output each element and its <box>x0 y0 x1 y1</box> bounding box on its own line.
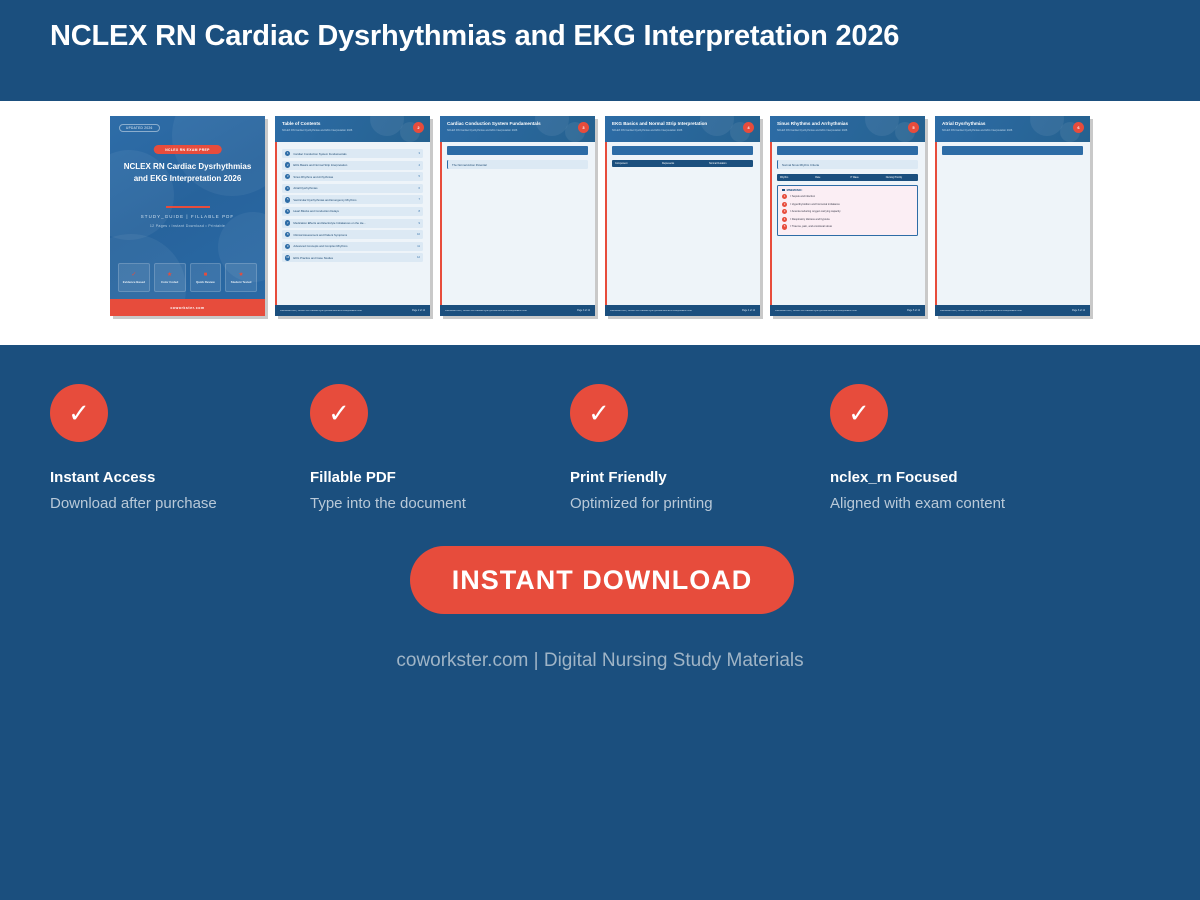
table-column-header: Rhythm <box>780 176 809 179</box>
toc-label: Cardiac Conduction System Fundamentals <box>293 152 415 156</box>
check-icon: ✓ <box>310 384 368 442</box>
toc-page: 6 <box>419 187 420 190</box>
list-item[interactable]: 6 Heart Blocks and Conduction Delays 8 <box>282 207 423 216</box>
mnemonic-heading: MNEMONIC: <box>782 189 913 192</box>
page-number-badge: 2 <box>413 122 424 133</box>
star-icon: ★ <box>167 272 172 278</box>
toc-page: 12 <box>417 256 420 259</box>
toc-label: Sinus Rhythms and Arrhythmias <box>293 175 415 179</box>
list-item[interactable]: 10 EKG Practice and Case Studies 12 <box>282 253 423 262</box>
decorative-blob <box>700 116 734 136</box>
feature-desc: Download after purchase <box>50 495 310 512</box>
list-item: 4 = Respiratory distress and hypoxia <box>782 217 913 222</box>
feature-list: ✓ Instant Access Download after purchase… <box>50 384 1150 512</box>
instant-download-button[interactable]: INSTANT DOWNLOAD <box>410 546 794 614</box>
decorative-blob <box>535 116 569 136</box>
toc-page: 10 <box>417 233 420 236</box>
mnemonic-index: 5 <box>782 224 787 229</box>
list-item[interactable]: 4 Atrial Dysrhythmias 6 <box>282 184 423 193</box>
page-title: Atrial Dysrhythmias <box>942 121 985 126</box>
list-item[interactable]: 5 Ventricular Dysrhythmias and Emergency… <box>282 195 423 204</box>
table-column-header: Rate <box>815 176 844 179</box>
feature-title: nclex_rn Focused <box>830 469 1090 486</box>
toc-index: 5 <box>285 197 290 202</box>
page-number-badge: 4 <box>743 122 754 133</box>
feature-desc: Type into the document <box>310 495 570 512</box>
content-card-label: The Normal Action Potential <box>452 163 487 167</box>
page-kicker: NCLEX RN Cardiac Dysrhythmias and EKG In… <box>282 129 352 132</box>
page-header: NCLEX RN Cardiac Dysrhythmias and EKG In… <box>0 0 1200 101</box>
page-title: Sinus Rhythms and Arrhythmias <box>777 121 848 126</box>
toc-index: 2 <box>285 162 290 167</box>
page-body: Component Represents Normal Duration <box>605 142 760 305</box>
page-body: Normal Sinus Rhythm Criteria Rhythm Rate… <box>770 142 925 305</box>
section-band <box>777 146 918 155</box>
toc-label: Clinical Assessment and Patient Symptoms <box>293 233 414 237</box>
cover-feature-item: ★ Student Tested <box>225 263 257 292</box>
page-canvas: Table of Contents NCLEX RN Cardiac Dysrh… <box>275 116 430 316</box>
square-icon: ■ <box>204 272 208 278</box>
page-body <box>935 142 1090 305</box>
cover-exam-badge: NCLEX RN EXAM PREP <box>153 145 222 154</box>
page-title: Cardiac Conduction System Fundamentals <box>447 121 541 126</box>
thumbnail-cover[interactable]: UPDATED 2026 NCLEX RN EXAM PREP NCLEX RN… <box>110 116 265 316</box>
thumbnail-page-6[interactable]: Atrial Dysrhythmias NCLEX RN Cardiac Dys… <box>935 116 1090 316</box>
cover-divider <box>166 206 210 208</box>
thumbnail-list: UPDATED 2026 NCLEX RN EXAM PREP NCLEX RN… <box>110 116 1090 316</box>
cover-subtitle: STUDY_GUIDE | FILLABLE PDF <box>110 214 265 219</box>
toc-label: Atrial Dysrhythmias <box>293 186 415 190</box>
thumbnail-page-2[interactable]: Table of Contents NCLEX RN Cardiac Dysrh… <box>275 116 430 316</box>
cover-feature-item: ★ Color Coded <box>154 263 186 292</box>
list-item[interactable]: 3 Sinus Rhythms and Arrhythmias 5 <box>282 172 423 181</box>
toc-index: 1 <box>285 151 290 156</box>
toc-index: 4 <box>285 186 290 191</box>
toc-index: 10 <box>285 255 290 260</box>
page-number-badge: 3 <box>578 122 589 133</box>
toc-page: 3 <box>419 152 420 155</box>
list-item[interactable]: 2 EKG Basics and Normal Strip Interpreta… <box>282 161 423 170</box>
cover-feature-label: Student Tested <box>231 280 252 284</box>
page-footer-left: coworkster.com | NCLEX RN Cardiac Dysrhy… <box>280 310 362 312</box>
feature-instant-access: ✓ Instant Access Download after purchase <box>50 384 310 512</box>
cover-feature-grid: ✓ Evidence Based ★ Color Coded ■ Quick R… <box>118 263 257 292</box>
list-item: 5 = Trauma, pain, and emotional stress <box>782 224 913 229</box>
toc-label: Ventricular Dysrhythmias and Emergency R… <box>293 198 415 202</box>
content-card: Normal Sinus Rhythm Criteria <box>777 160 918 169</box>
mnemonic-callout: MNEMONIC: 1 = Sepsis and infection 2 = H… <box>777 185 918 236</box>
page-kicker: NCLEX RN Cardiac Dysrhythmias and EKG In… <box>777 129 847 132</box>
mnemonic-index: 3 <box>782 209 787 214</box>
cover-feature-item: ■ Quick Review <box>190 263 222 292</box>
toc-index: 6 <box>285 209 290 214</box>
table-column-header: Represents <box>662 162 703 165</box>
page-footer: coworkster.com | NCLEX RN Cardiac Dysrhy… <box>440 305 595 316</box>
page-header-band: EKG Basics and Normal Strip Interpretati… <box>605 116 760 142</box>
mnemonic-label: = Respiratory distress and hypoxia <box>790 218 830 221</box>
cover-updated-badge: UPDATED 2026 <box>119 124 160 132</box>
section-band <box>447 146 588 155</box>
page-footer-left: coworkster.com | NCLEX RN Cardiac Dysrhy… <box>775 310 857 312</box>
mnemonic-label: = Anemia reducing oxygen carrying capaci… <box>790 210 841 213</box>
page-footer-right: Page 2 of 12 <box>412 310 425 312</box>
mnemonic-heading-label: MNEMONIC: <box>787 189 803 192</box>
page-canvas: Atrial Dysrhythmias NCLEX RN Cardiac Dys… <box>935 116 1090 316</box>
cover-title: NCLEX RN Cardiac Dysrhythmias and EKG In… <box>122 161 253 184</box>
toc-page: 7 <box>419 198 420 201</box>
feature-title: Instant Access <box>50 469 310 486</box>
thumbnail-page-3[interactable]: Cardiac Conduction System Fundamentals N… <box>440 116 595 316</box>
toc-label: EKG Practice and Case Studies <box>293 256 414 260</box>
table-column-header: Normal Duration <box>709 162 750 165</box>
section-band <box>612 146 753 155</box>
site-note: coworkster.com | Digital Nursing Study M… <box>0 650 1200 672</box>
toc-label: Medication Effects and Electrolyte Imbal… <box>293 221 415 225</box>
page-footer: coworkster.com | NCLEX RN Cardiac Dysrhy… <box>935 305 1090 316</box>
check-icon: ✓ <box>830 384 888 442</box>
table-header-row: Component Represents Normal Duration <box>612 160 753 167</box>
check-icon: ✓ <box>570 384 628 442</box>
toc-page: 9 <box>419 222 420 225</box>
toc-index: 3 <box>285 174 290 179</box>
toc-label: Heart Blocks and Conduction Delays <box>293 209 415 213</box>
page-kicker: NCLEX RN Cardiac Dysrhythmias and EKG In… <box>942 129 1012 132</box>
table-column-header: Component <box>615 162 656 165</box>
thumbnail-page-4[interactable]: EKG Basics and Normal Strip Interpretati… <box>605 116 760 316</box>
mnemonic-index: 1 <box>782 194 787 199</box>
toc-page: 11 <box>417 245 420 248</box>
list-item: 1 = Sepsis and infection <box>782 194 913 199</box>
decorative-blob <box>1030 116 1064 136</box>
thumbnail-page-5[interactable]: Sinus Rhythms and Arrhythmias NCLEX RN C… <box>770 116 925 316</box>
list-item: 3 = Anemia reducing oxygen carrying capa… <box>782 209 913 214</box>
toc-index: 9 <box>285 244 290 249</box>
cover-feature-label: Color Coded <box>161 280 178 284</box>
mnemonic-label: = Sepsis and infection <box>790 195 815 198</box>
page-header-band: Table of Contents NCLEX RN Cardiac Dysrh… <box>275 116 430 142</box>
feature-fillable-pdf: ✓ Fillable PDF Type into the document <box>310 384 570 512</box>
page-canvas: EKG Basics and Normal Strip Interpretati… <box>605 116 760 316</box>
decorative-blob <box>865 116 899 136</box>
page-footer-right: Page 4 of 12 <box>742 310 755 312</box>
table-of-contents: 1 Cardiac Conduction System Fundamentals… <box>282 149 423 262</box>
page-header-band: Sinus Rhythms and Arrhythmias NCLEX RN C… <box>770 116 925 142</box>
page-footer-right: Page 6 of 12 <box>1072 310 1085 312</box>
page-footer: coworkster.com | NCLEX RN Cardiac Dysrhy… <box>605 305 760 316</box>
page-title: EKG Basics and Normal Strip Interpretati… <box>612 121 707 126</box>
page-footer-left: coworkster.com | NCLEX RN Cardiac Dysrhy… <box>940 310 1022 312</box>
page-footer-right: Page 3 of 12 <box>577 310 590 312</box>
mnemonic-index: 4 <box>782 217 787 222</box>
toc-label: EKG Basics and Normal Strip Interpretati… <box>293 163 415 167</box>
section-band <box>942 146 1083 155</box>
list-item[interactable]: 8 Clinical Assessment and Patient Sympto… <box>282 230 423 239</box>
toc-page: 8 <box>419 210 420 213</box>
toc-index: 7 <box>285 220 290 225</box>
table-header-row: Rhythm Rate P Wave Nursing Priority <box>777 174 918 181</box>
page-footer-left: coworkster.com | NCLEX RN Cardiac Dysrhy… <box>610 310 692 312</box>
page-footer-right: Page 5 of 12 <box>907 310 920 312</box>
page-number-badge: 5 <box>908 122 919 133</box>
page-number-badge: 6 <box>1073 122 1084 133</box>
feature-desc: Optimized for printing <box>570 495 830 512</box>
page-footer: coworkster.com | NCLEX RN Cardiac Dysrhy… <box>275 305 430 316</box>
list-item[interactable]: 1 Cardiac Conduction System Fundamentals… <box>282 149 423 158</box>
content-card: The Normal Action Potential <box>447 160 588 169</box>
feature-desc: Aligned with exam content <box>830 495 1090 512</box>
page-footer-left: coworkster.com | NCLEX RN Cardiac Dysrhy… <box>445 310 527 312</box>
cover-meta: 12 Pages • Instant Download • Printable <box>110 224 265 228</box>
decorative-blob <box>370 116 404 136</box>
page-header-band: Cardiac Conduction System Fundamentals N… <box>440 116 595 142</box>
list-item[interactable]: 9 Advanced Concepts and Complex Rhythms … <box>282 242 423 251</box>
feature-nclex-focused: ✓ nclex_rn Focused Aligned with exam con… <box>830 384 1090 512</box>
table-column-header: P Wave <box>851 176 880 179</box>
star-icon: ★ <box>238 272 243 278</box>
feature-print-friendly: ✓ Print Friendly Optimized for printing <box>570 384 830 512</box>
check-icon: ✓ <box>131 272 136 278</box>
toc-index: 8 <box>285 232 290 237</box>
table-column-header: Nursing Priority <box>886 176 915 179</box>
toc-label: Advanced Concepts and Complex Rhythms <box>293 244 414 248</box>
cover-feature-label: Quick Review <box>196 280 215 284</box>
cover-feature-item: ✓ Evidence Based <box>118 263 150 292</box>
square-bullet-icon <box>782 189 785 192</box>
cover-canvas: UPDATED 2026 NCLEX RN EXAM PREP NCLEX RN… <box>110 116 265 316</box>
mnemonic-index: 2 <box>782 202 787 207</box>
page-canvas: Cardiac Conduction System Fundamentals N… <box>440 116 595 316</box>
page-header-band: Atrial Dysrhythmias NCLEX RN Cardiac Dys… <box>935 116 1090 142</box>
cover-footer-text: coworkster.com <box>170 306 204 310</box>
page-footer: coworkster.com | NCLEX RN Cardiac Dysrhy… <box>770 305 925 316</box>
page-title: NCLEX RN Cardiac Dysrhythmias and EKG In… <box>50 20 899 53</box>
feature-title: Print Friendly <box>570 469 830 486</box>
mnemonic-label: = Hyperthyroidism and hormonal imbalance <box>790 203 840 206</box>
list-item[interactable]: 7 Medication Effects and Electrolyte Imb… <box>282 219 423 228</box>
page-kicker: NCLEX RN Cardiac Dysrhythmias and EKG In… <box>447 129 517 132</box>
list-item: 2 = Hyperthyroidism and hormonal imbalan… <box>782 202 913 207</box>
preview-strip: UPDATED 2026 NCLEX RN EXAM PREP NCLEX RN… <box>0 101 1200 345</box>
toc-page: 4 <box>419 164 420 167</box>
mnemonic-label: = Trauma, pain, and emotional stress <box>790 225 833 228</box>
page-title: Table of Contents <box>282 121 320 126</box>
check-icon: ✓ <box>50 384 108 442</box>
page-body: The Normal Action Potential <box>440 142 595 305</box>
content-card-label: Normal Sinus Rhythm Criteria <box>782 163 819 167</box>
cover-feature-label: Evidence Based <box>123 280 145 284</box>
page-canvas: Sinus Rhythms and Arrhythmias NCLEX RN C… <box>770 116 925 316</box>
page-kicker: NCLEX RN Cardiac Dysrhythmias and EKG In… <box>612 129 682 132</box>
toc-page: 5 <box>419 175 420 178</box>
feature-title: Fillable PDF <box>310 469 570 486</box>
product-landing-page: NCLEX RN Cardiac Dysrhythmias and EKG In… <box>0 0 1200 900</box>
page-body: 1 Cardiac Conduction System Fundamentals… <box>275 142 430 305</box>
cover-footer: coworkster.com <box>110 299 265 316</box>
